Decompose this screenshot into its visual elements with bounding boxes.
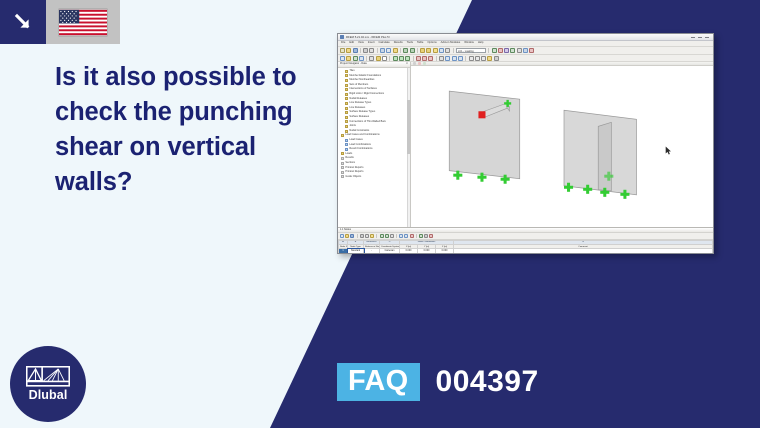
table-export-icon[interactable] [419, 234, 423, 238]
navigator-item-label: Load Combinations [349, 144, 371, 147]
main-toolbar-row-1[interactable]: LC1 - Loading [338, 47, 713, 55]
menu-item-help[interactable]: Help [478, 42, 484, 45]
paste-icon[interactable] [393, 48, 398, 53]
navigator-item-label: Nodal Constraints [349, 130, 369, 133]
new-line-icon[interactable] [353, 56, 358, 61]
tree-node-icon [345, 84, 348, 87]
toolbar-separator [389, 56, 390, 61]
navigator-item-label: Member Nonlinearities [349, 79, 374, 82]
navigator-item-label: Surface Releases [349, 116, 369, 119]
table-help-icon[interactable] [429, 234, 433, 238]
table-panel[interactable]: 1.1 Nodes [338, 227, 713, 254]
tree-node-icon [345, 79, 348, 82]
menu-item-addon-modules[interactable]: Add-on Modules [441, 42, 461, 45]
arrow-down-right-icon [12, 11, 34, 33]
move-icon[interactable] [445, 56, 450, 61]
zoom-out-icon[interactable] [426, 48, 431, 53]
line-load-icon[interactable] [422, 56, 427, 61]
tree-node-icon [345, 74, 348, 77]
rotate-icon[interactable] [452, 56, 457, 61]
dlubal-logo: Dlubal [10, 346, 86, 422]
cell-z[interactable]: 0.000 [436, 253, 454, 254]
tree-node-icon [345, 93, 348, 96]
nodal-support-icon[interactable] [393, 56, 398, 61]
tree-node-icon [345, 148, 348, 151]
navigator-item-label: Tiles [349, 70, 354, 73]
table-save-icon[interactable] [350, 234, 354, 238]
table-print-icon[interactable] [424, 234, 428, 238]
toolbar-separator [396, 234, 397, 238]
new-solid-icon[interactable] [376, 56, 381, 61]
table-copy-icon[interactable] [365, 234, 369, 238]
menu-item-window[interactable]: Window [464, 42, 474, 45]
navigator-item-label: Results [345, 157, 353, 160]
table-new-icon[interactable] [340, 234, 344, 238]
close-button[interactable] [705, 37, 709, 38]
nodes-table[interactable]: A B Reference D Node Coordinates G Node … [338, 240, 713, 254]
cell-x[interactable]: 5.000 [400, 253, 418, 254]
select-objects-icon[interactable] [340, 56, 345, 61]
print-preview-icon[interactable] [369, 48, 374, 53]
view-front-icon[interactable] [469, 56, 474, 61]
toolbar-separator [377, 48, 378, 53]
view-top-icon[interactable] [475, 56, 480, 61]
page-title: Is it also possible to check the punchin… [55, 60, 345, 200]
menu-item-file[interactable]: File [341, 42, 345, 45]
toolbar-separator [488, 48, 489, 53]
tree-node-icon [345, 88, 348, 91]
main-toolbar-row-2[interactable] [338, 55, 713, 62]
navigator-scroll-thumb[interactable] [407, 100, 410, 154]
menu-item-view[interactable]: View [358, 42, 364, 45]
calculate-icon[interactable] [498, 48, 503, 53]
view-toolbar-icon[interactable] [418, 62, 421, 65]
cell-type[interactable]: Standard [348, 253, 364, 254]
table-filter-icon[interactable] [380, 234, 384, 238]
headline-line-3: shear on vertical [55, 130, 345, 165]
logo-circle: Dlubal [10, 346, 86, 422]
toolbar-separator [357, 234, 358, 238]
toolbar-separator [417, 48, 418, 53]
zoom-window-icon[interactable] [433, 48, 438, 53]
view-iso-icon[interactable] [481, 56, 486, 61]
rfem-app-icon [340, 35, 344, 39]
window-title: RFEM 5.21.02.xxx - [RFEM Plus 5] [346, 36, 390, 39]
navigator-item-label: Nodal Releases [349, 98, 367, 101]
view-toolbar-icon[interactable] [413, 62, 416, 65]
corner-badges [0, 0, 120, 44]
settings-icon[interactable] [517, 48, 522, 53]
navigator-item-label: Load Cases [349, 139, 362, 142]
new-member-icon[interactable] [359, 56, 364, 61]
wall-right [564, 110, 636, 195]
cell-y[interactable]: 0.000 [418, 253, 436, 254]
toolbar-separator [416, 234, 417, 238]
tree-node-icon [345, 143, 348, 146]
navigator-tree[interactable]: TilesMember Elastic FoundationsMember No… [338, 68, 410, 227]
window-titlebar: RFEM 5.21.02.xxx - [RFEM Plus 5] [338, 34, 713, 41]
toolbar-separator [400, 48, 401, 53]
menu-item-edit[interactable]: Edit [349, 42, 354, 45]
navigator-item-label: Rigid Links / Rigid Connections [349, 93, 384, 96]
maximize-button[interactable] [698, 37, 702, 38]
navigator-item-label: Load Cases and Combinations [345, 134, 379, 137]
new-icon[interactable] [340, 48, 345, 53]
surface-load-icon[interactable] [428, 56, 433, 61]
navigator-scrollbar[interactable] [407, 68, 410, 227]
menu-item-tools[interactable]: Tools [407, 42, 413, 45]
faq-identifier: FAQ 004397 [337, 363, 539, 401]
menu-item-results[interactable]: Results [394, 42, 403, 45]
navigator-item-label: Member Elastic Foundations [349, 75, 381, 78]
open-icon[interactable] [346, 48, 351, 53]
flag-tile [46, 0, 120, 44]
tree-node-icon [341, 134, 344, 137]
navigator-item-label: Printout Reports [345, 167, 363, 170]
tree-node-icon [345, 111, 348, 114]
help-icon[interactable] [529, 48, 534, 53]
toolbar-separator [436, 56, 437, 61]
headline-line-4: walls? [55, 165, 345, 200]
navigator-item-label: Sets of Members [349, 84, 368, 87]
navigator-item-label: Joints [349, 125, 356, 128]
cut-icon[interactable] [380, 48, 385, 53]
menu-item-table[interactable]: Table [417, 42, 423, 45]
grid-snap-icon[interactable] [487, 56, 492, 61]
tree-node-icon [345, 102, 348, 105]
panel-close-icon[interactable]: ✕ [406, 63, 408, 66]
us-flag-icon [59, 9, 107, 36]
nodal-load-icon[interactable] [416, 56, 421, 61]
undo-icon[interactable] [403, 48, 408, 53]
view-toolbar-icon[interactable] [423, 62, 426, 65]
table-delete-icon[interactable] [410, 234, 414, 238]
structural-model-3d[interactable] [411, 66, 713, 227]
new-node-icon[interactable] [346, 56, 351, 61]
wall-left [449, 91, 519, 179]
navigator-tree-item[interactable]: Guide Objects [338, 175, 410, 180]
table-paste-icon[interactable] [370, 234, 374, 238]
load-case-select[interactable]: LC1 - Loading [456, 48, 486, 53]
tree-node-icon [341, 166, 344, 169]
arrow-tile [0, 0, 46, 44]
tree-node-icon [345, 97, 348, 100]
navigator-item-label: Sections [345, 162, 355, 165]
cell-comment[interactable] [454, 253, 713, 254]
print-icon[interactable] [363, 48, 368, 53]
toolbar-separator [366, 56, 367, 61]
render-icon[interactable] [492, 48, 497, 53]
faq-tag: FAQ [337, 363, 420, 401]
redo-icon[interactable] [410, 48, 415, 53]
menu-item-options[interactable]: Options [427, 42, 436, 45]
navigator-title: Project Navigator - Data [340, 63, 367, 66]
table-prev-icon[interactable] [399, 234, 403, 238]
toolbar-separator [360, 48, 361, 53]
logo-text: Dlubal [29, 389, 68, 402]
table-cut-icon[interactable] [360, 234, 364, 238]
mirror-icon[interactable] [458, 56, 463, 61]
zoom-in-icon[interactable] [420, 48, 425, 53]
headline-line-1: Is it also possible to [55, 60, 345, 95]
surface-support-icon[interactable] [405, 56, 410, 61]
toolbar-separator [453, 48, 454, 53]
layer-icon[interactable] [494, 56, 499, 61]
navigator-item-label: Surface Release Types [349, 111, 375, 114]
save-icon[interactable] [353, 48, 358, 53]
table-settings-icon[interactable] [390, 234, 394, 238]
project-navigator-panel[interactable]: Project Navigator - Data ✕ TilesMember E… [338, 62, 411, 227]
cell-csys[interactable]: Cartesian [380, 253, 400, 254]
tree-node-icon [341, 157, 344, 160]
navigator-item-label: Line Releases [349, 107, 365, 110]
tree-node-icon [341, 171, 344, 174]
truss-frame-icon [26, 366, 70, 389]
navigator-item-label: Loads [345, 153, 352, 156]
new-opening-icon[interactable] [382, 56, 387, 61]
zoom-all-icon[interactable] [439, 48, 444, 53]
toolbar-separator [465, 56, 466, 61]
results-icon[interactable] [504, 48, 509, 53]
table-toolbar[interactable] [338, 233, 713, 240]
tree-node-icon [341, 162, 344, 165]
menu-item-calculate[interactable]: Calculate [379, 42, 390, 45]
table-row[interactable]: 2Standard-Cartesian5.0000.0000.000 [339, 253, 713, 254]
cell-ref[interactable]: - [364, 253, 380, 254]
cell-no[interactable]: 2 [339, 253, 348, 254]
headline-line-2: check the punching [55, 95, 345, 130]
toolbar-separator [376, 234, 377, 238]
navigator-item-label: Intersections of Surfaces [349, 88, 377, 91]
tree-node-icon [341, 152, 344, 155]
table-open-icon[interactable] [345, 234, 349, 238]
navigator-item-label: Result Combinations [349, 148, 372, 151]
pan-icon[interactable] [445, 48, 450, 53]
info-icon[interactable] [523, 48, 528, 53]
new-surface-icon[interactable] [369, 56, 374, 61]
copy-icon[interactable] [386, 48, 391, 53]
faq-number: 004397 [436, 367, 539, 397]
navigator-item-label: Line Release Types [349, 102, 371, 105]
dimension-icon[interactable] [439, 56, 444, 61]
deformation-icon[interactable] [510, 48, 515, 53]
table-sort-icon[interactable] [385, 234, 389, 238]
minimize-button[interactable] [691, 37, 695, 38]
slide-stage: Is it also possible to check the punchin… [0, 0, 760, 428]
tree-node-icon [345, 130, 348, 133]
tree-node-icon [345, 70, 348, 73]
window-controls[interactable] [691, 37, 711, 38]
tree-node-icon [345, 125, 348, 128]
tree-node-icon [341, 175, 344, 178]
model-viewport[interactable] [411, 62, 713, 227]
navigator-item-label: Guide Objects [345, 176, 361, 179]
navigator-item-label: Connections of Thin-Walled Bars [349, 121, 385, 124]
table-next-icon[interactable] [404, 234, 408, 238]
toolbar-separator [413, 56, 414, 61]
tree-node-icon [345, 107, 348, 110]
navigator-item-label: Printout Reports [345, 171, 363, 174]
menu-item-insert[interactable]: Insert [368, 42, 375, 45]
rfem-application-window[interactable]: RFEM 5.21.02.xxx - [RFEM Plus 5] File Ed… [337, 33, 714, 254]
line-support-icon[interactable] [399, 56, 404, 61]
tree-node-icon [345, 116, 348, 119]
tree-node-icon [345, 139, 348, 142]
workspace: Project Navigator - Data ✕ TilesMember E… [338, 62, 713, 227]
tree-node-icon [345, 120, 348, 123]
